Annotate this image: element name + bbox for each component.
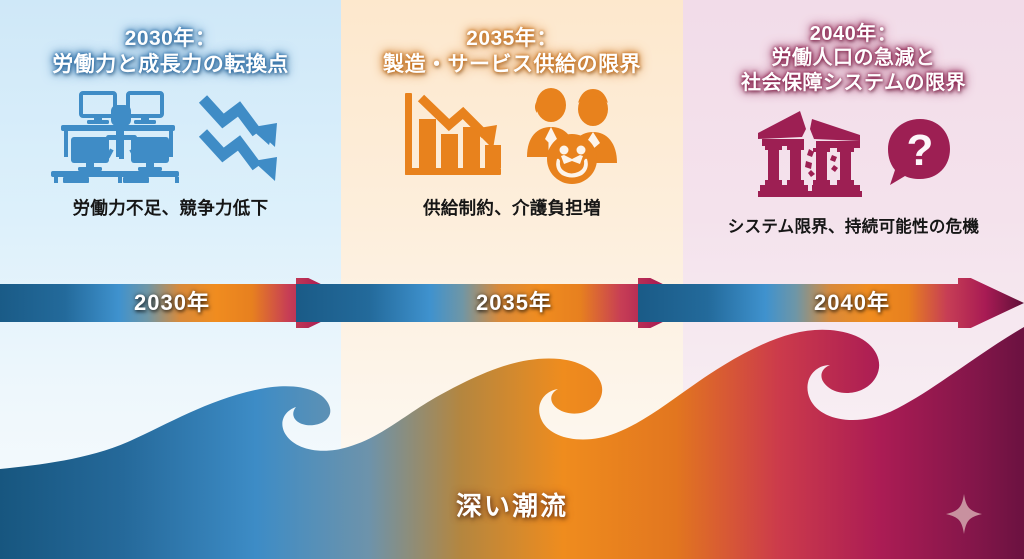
column-title-2030: 2030年： 労働力と成長力の転換点 — [52, 26, 289, 77]
column-caption-2040: システム限界、持続可能性の危機 — [728, 213, 980, 237]
column-title-2035: 2035年： 製造・サービス供給の限界 — [383, 26, 641, 77]
declining-bar-chart-icon — [401, 87, 505, 183]
infographic-canvas: 2030年： 労働力と成長力の転換点 — [0, 0, 1024, 559]
icon-row-2040: ? — [754, 101, 954, 205]
empty-office-desks-icon — [49, 87, 181, 183]
icon-row-2030 — [49, 83, 293, 187]
column-2035: 2035年： 製造・サービス供給の限界 — [341, 0, 683, 270]
column-2030: 2030年： 労働力と成長力の転換点 — [0, 0, 341, 270]
column-2040: 2040年： 労働人口の急減と 社会保障システムの限界 — [683, 0, 1024, 270]
column-caption-2035: 供給制約、介護負担増 — [423, 195, 601, 220]
elderly-care-people-icon — [521, 85, 623, 185]
question-bubble-icon: ? — [882, 115, 954, 191]
icon-row-2035 — [401, 83, 623, 187]
columns: 2030年： 労働力と成長力の転換点 — [0, 0, 1024, 270]
sparkle-icon — [946, 494, 982, 534]
deep-current-wave — [0, 319, 1024, 559]
column-title-2040: 2040年： 労働人口の急減と 社会保障システムの限界 — [741, 22, 966, 95]
broken-institution-icon — [754, 107, 866, 199]
declining-arrows-icon — [197, 89, 293, 181]
svg-text:?: ? — [906, 126, 933, 175]
column-caption-2030: 労働力不足、競争力低下 — [73, 195, 269, 220]
